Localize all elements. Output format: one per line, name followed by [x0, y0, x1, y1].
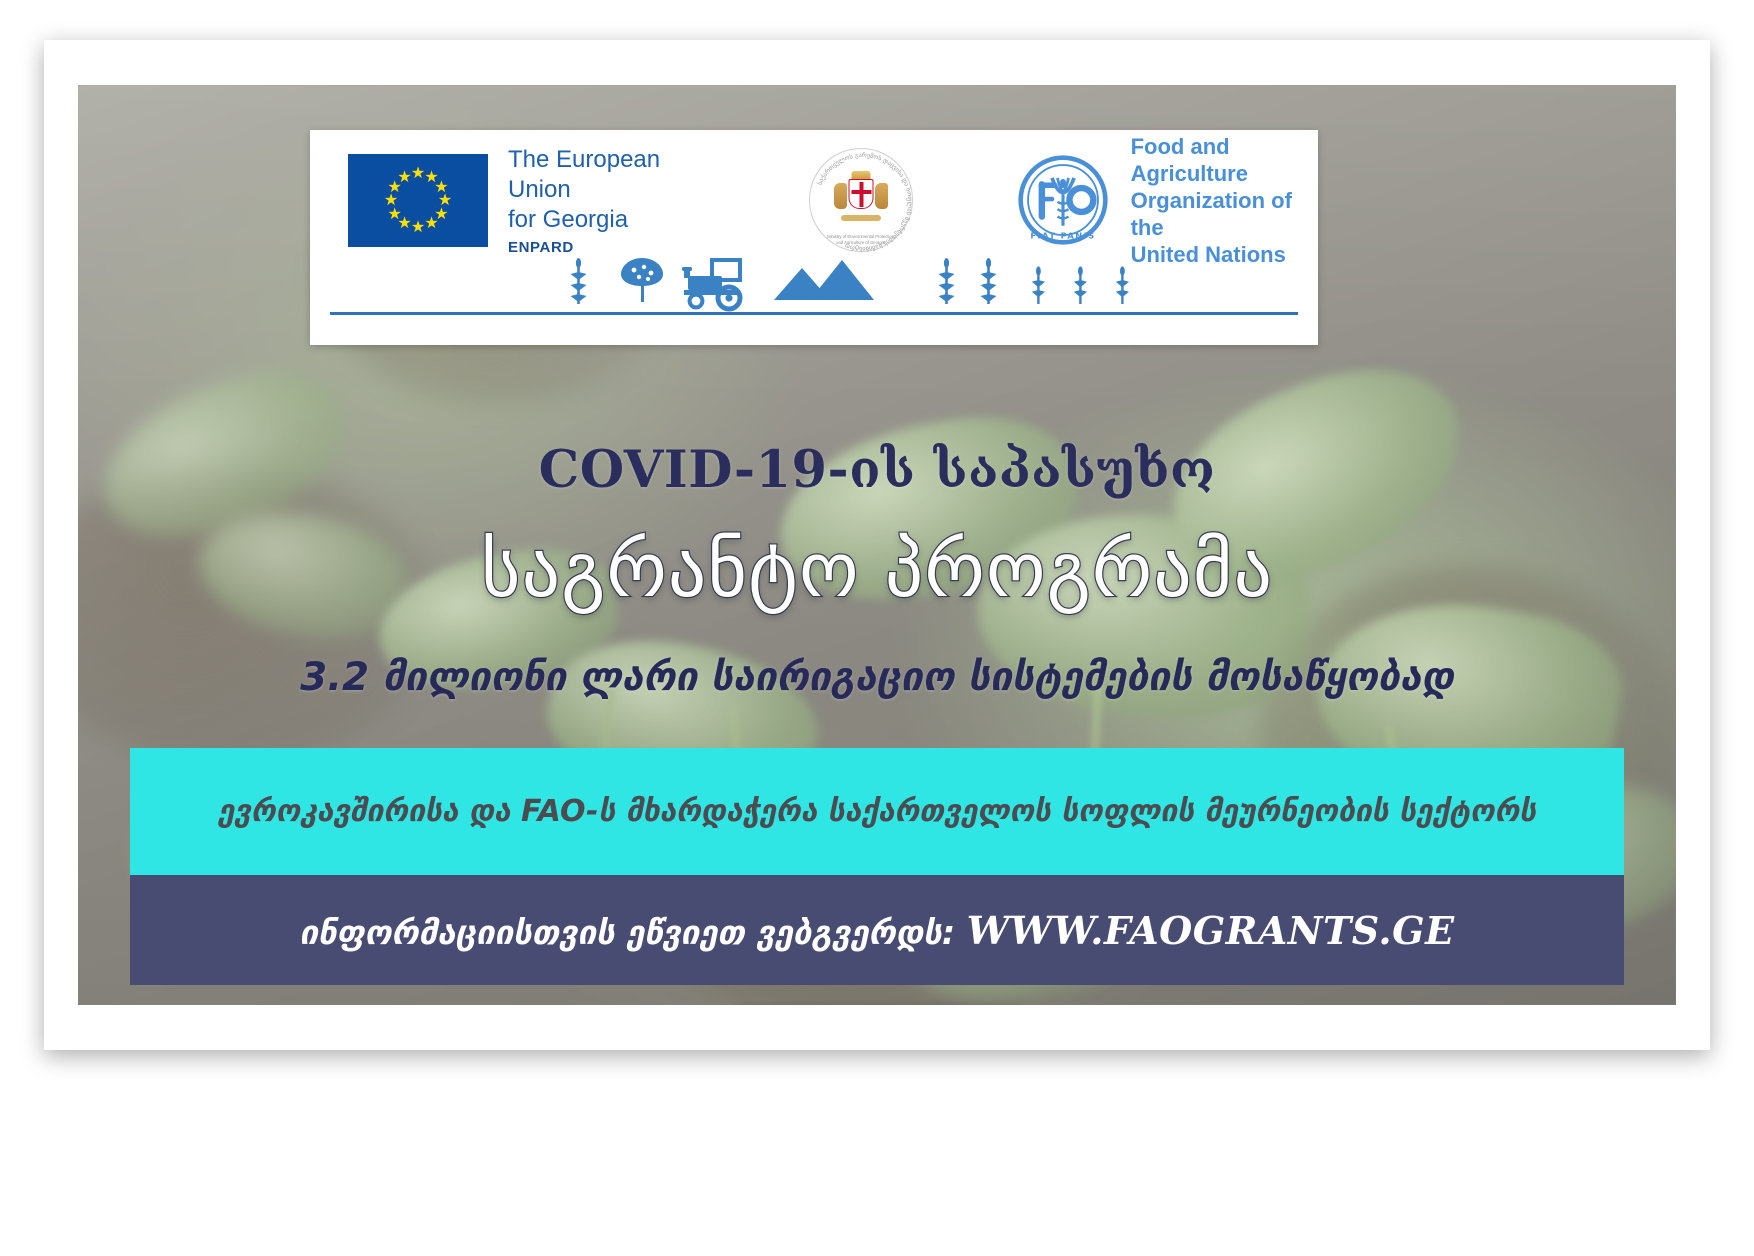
coat-of-arms-icon — [833, 171, 889, 221]
fao-line-2: Organization of the — [1131, 187, 1318, 241]
mountain-icon — [774, 260, 874, 300]
fao-logo-text: Food and Agriculture Organization of the… — [1131, 133, 1318, 268]
poster-white-frame: ★★★★★★★★★★★★ The European Union for Geor… — [44, 40, 1710, 1050]
website-prefix: ინფორმაციისთვის ეწვიეთ ვებგვერდს: — [299, 913, 955, 952]
emblem-caption-en: Ministry of Environmental Protection and… — [824, 234, 898, 245]
horizon-rule — [330, 312, 1298, 315]
tree-icon — [621, 258, 663, 302]
support-message-band: ევროკავშირისა და FAO-ს მხარდაჭერა საქართ… — [130, 748, 1624, 875]
eu-flag-icon: ★★★★★★★★★★★★ — [348, 154, 488, 247]
wheat-icon — [1074, 266, 1087, 304]
fao-logo: FIAT PANIS Food and Agriculture Organiza… — [1017, 133, 1318, 268]
eu-enpard-label: ENPARD — [508, 239, 691, 256]
logo-strip: ★★★★★★★★★★★★ The European Union for Geor… — [310, 130, 1318, 345]
agriculture-icon-band — [330, 257, 1298, 327]
svg-text:FIAT PANIS: FIAT PANIS — [1030, 231, 1095, 241]
agri-icons-svg — [330, 254, 1298, 312]
wheat-icon — [981, 258, 997, 304]
poster-page: ★★★★★★★★★★★★ The European Union for Geor… — [0, 0, 1754, 1256]
fao-line-1: Food and Agriculture — [1131, 133, 1318, 187]
tractor-icon — [682, 260, 740, 309]
eu-line-1: The European Union — [508, 145, 691, 205]
headline-covid: COVID-19-ის საპასუხო — [78, 440, 1676, 500]
eu-logo-text: The European Union for Georgia ENPARD — [508, 145, 691, 256]
eu-logo: ★★★★★★★★★★★★ The European Union for Geor… — [348, 145, 691, 256]
website-band: ინფორმაციისთვის ეწვიეთ ვებგვერდს: WWW.FA… — [130, 875, 1624, 985]
eu-line-2: for Georgia — [508, 205, 691, 235]
wheat-icon — [939, 258, 955, 304]
wheat-icon — [571, 258, 587, 304]
logo-row: ★★★★★★★★★★★★ The European Union for Geor… — [310, 130, 1318, 270]
headline-program: საგრანტო პროგრამა — [78, 525, 1676, 614]
eu-star-icon: ★ — [397, 169, 413, 185]
website-band-text: ინფორმაციისთვის ეწვიეთ ვებგვერდს: WWW.FA… — [271, 908, 1482, 953]
support-message-text: ევროკავშირისა და FAO-ს მხარდაჭერა საქართ… — [190, 794, 1564, 829]
fao-emblem-icon: FIAT PANIS — [1017, 154, 1109, 246]
subtitle-amount: 3.2 მილიონი ლარი საირიგაციო სისტემების მ… — [78, 655, 1676, 700]
website-url[interactable]: WWW.FAOGRANTS.GE — [967, 908, 1455, 953]
wheat-icon — [1116, 266, 1129, 304]
wheat-icon — [1032, 266, 1045, 304]
poster-canvas: ★★★★★★★★★★★★ The European Union for Geor… — [78, 85, 1676, 1005]
georgia-ministry-emblem-icon: საქართველოს გარემოს დაცვისა და სოფლის მე… — [809, 148, 913, 252]
